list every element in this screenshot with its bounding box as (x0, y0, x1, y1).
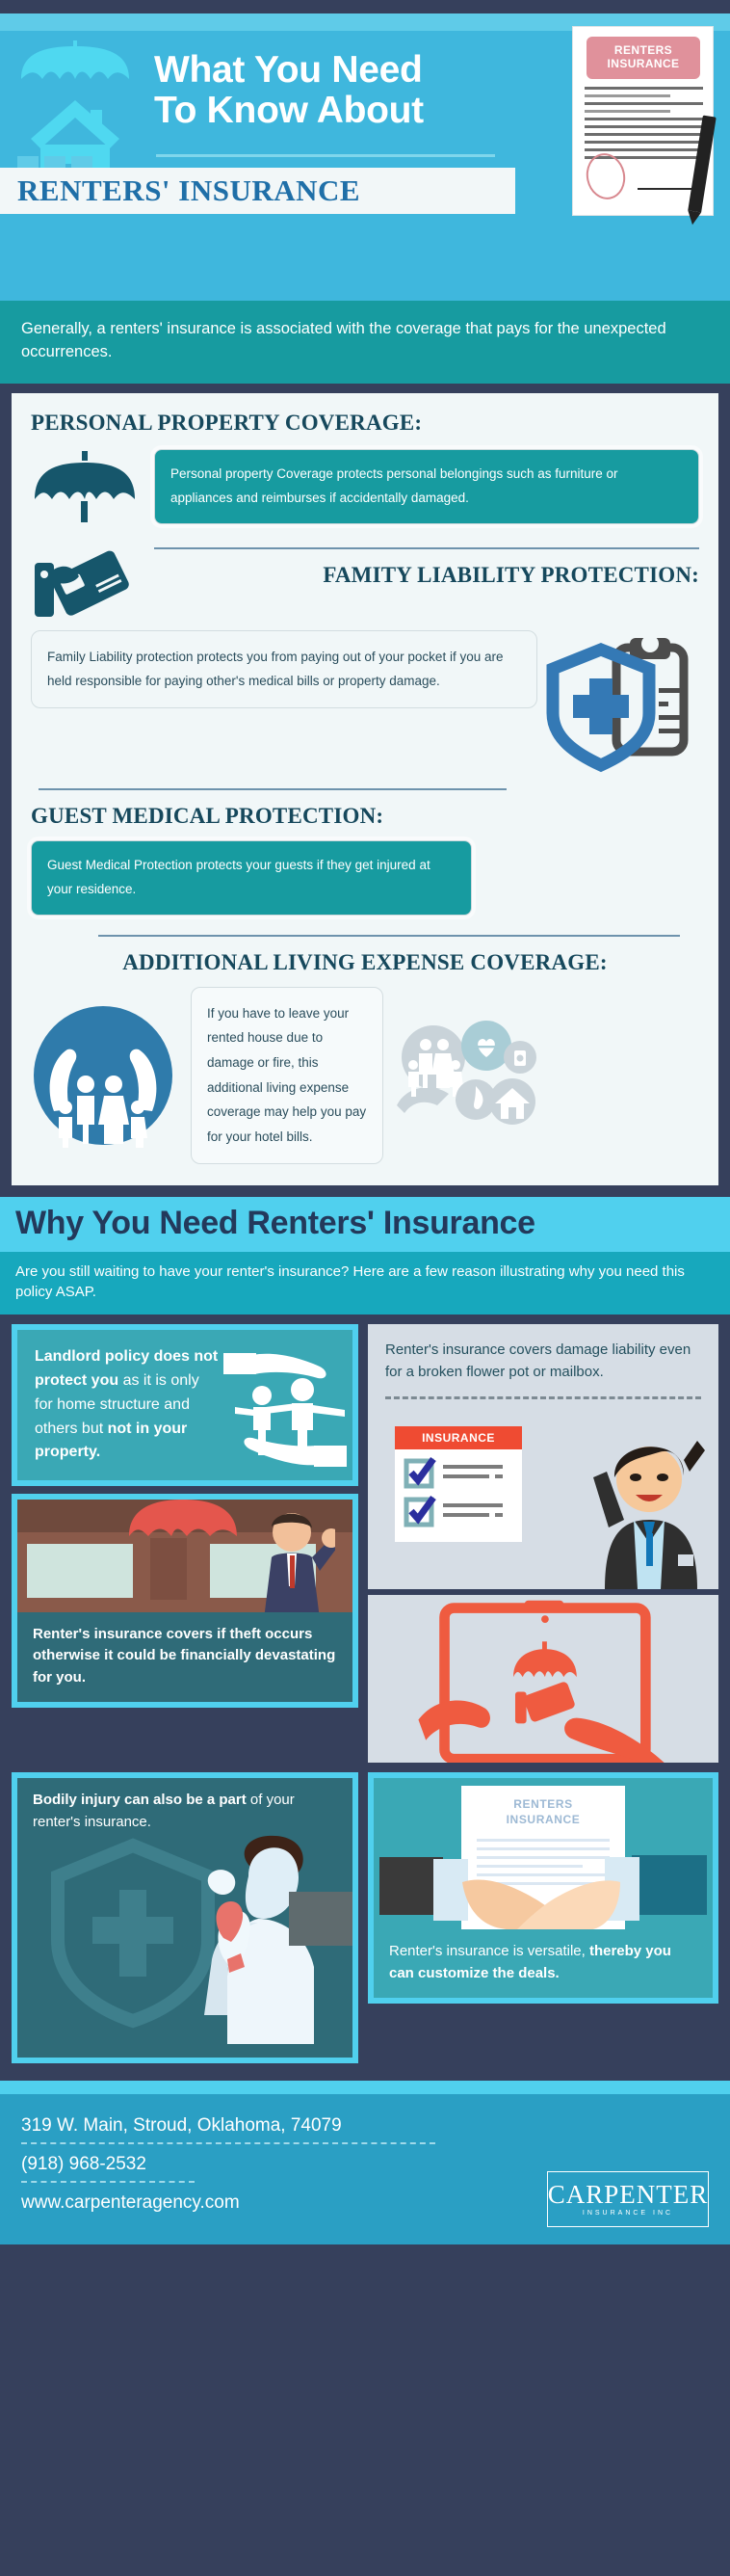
bodily-card-frame: Bodily injury can also be a part of your… (12, 1772, 358, 2063)
agent-checklist-scene: INSURANCE (368, 1411, 718, 1589)
umbrella-dark-icon (31, 449, 139, 526)
checklist-items (395, 1449, 522, 1540)
logo-sub-text: INSURANCE INC (583, 2210, 673, 2217)
policy-sheet-line-1: RENTERS (461, 1797, 625, 1813)
policy-signature-line (638, 188, 697, 190)
coverage-callout-guest-medical: Guest Medical Protection protects your g… (31, 840, 472, 916)
intro-banner: Generally, a renters' insurance is assoc… (0, 301, 730, 384)
theft-caption: Renter's insurance covers if theft occur… (17, 1612, 352, 1703)
section-divider-1 (154, 547, 699, 549)
bodily-column: Bodily injury can also be a part of your… (12, 1772, 358, 2063)
tablet-hands-scene (368, 1589, 718, 1763)
hands-family-icon (31, 1003, 175, 1148)
theft-card-frame: Renter's insurance covers if theft occur… (12, 1494, 358, 1708)
why-left-column: Landlord policy does not protect you as … (12, 1324, 358, 1763)
logo-brand-text: CARPENTER (548, 2182, 709, 2208)
coverage-heading-family-liability: FAMITY LIABILITY PROTECTION: (154, 563, 699, 588)
theft-scene: Renter's insurance covers if theft occur… (17, 1500, 352, 1702)
shop-door (150, 1538, 187, 1600)
damage-liability-card: Renter's insurance covers damage liabili… (368, 1324, 718, 1411)
shop-window-left (27, 1544, 133, 1598)
tablet-umbrella-icon (368, 1595, 718, 1763)
footer-divider-1 (21, 2142, 435, 2144)
footer-accent-band (0, 2081, 730, 2094)
section-divider-2 (39, 788, 507, 790)
carpenter-logo: CARPENTER INSURANCE INC (547, 2171, 709, 2227)
agent-icon (570, 1427, 715, 1589)
coverage-callout-family-liability: Family Liability protection protects you… (31, 630, 537, 708)
hero-banner-text: RENTERS' INSURANCE (17, 173, 360, 208)
hero-title-line-1: What You Need (154, 50, 510, 91)
footer: 319 W. Main, Stroud, Oklahoma, 74079 (91… (0, 2094, 730, 2244)
bottom-strip (0, 2244, 730, 2270)
hero-banner: RENTERS' INSURANCE (0, 168, 515, 214)
policy-badge-line-2: INSURANCE (608, 58, 680, 71)
coverage-heading-guest-medical: GUEST MEDICAL PROTECTION: (31, 804, 699, 829)
why-section-title: Why You Need Renters' Insurance (0, 1197, 730, 1252)
red-umbrella-icon (125, 1500, 241, 1544)
hero-divider (156, 154, 495, 157)
intro-text: Generally, a renters' insurance is assoc… (21, 320, 666, 360)
wallet-cards-icon (31, 538, 139, 621)
landlord-card: Landlord policy does not protect you as … (17, 1330, 352, 1480)
checklist-sheet: INSURANCE (395, 1426, 522, 1542)
policy-badge-line-1: RENTERS (614, 44, 672, 58)
family-benefits-cluster-icon (393, 1013, 537, 1138)
damage-liability-text: Renter's insurance covers damage liabili… (385, 1340, 701, 1383)
coverage-heading-personal-property: PERSONAL PROPERTY COVERAGE: (31, 411, 699, 436)
why-section-subtitle: Are you still waiting to have your rente… (0, 1252, 730, 1315)
versatile-column: RENTERS INSURANCE (368, 1772, 718, 2063)
umbrella-icon (19, 39, 131, 96)
coverage-callout-additional-living: If you have to leave your rented house d… (191, 987, 383, 1164)
why-right-column: Renter's insurance covers damage liabili… (368, 1324, 718, 1763)
insurance-label: INSURANCE (395, 1426, 522, 1449)
hands-protect-people-icon (223, 1340, 347, 1467)
hero-title-line-2: To Know About (154, 91, 510, 131)
coverage-panel: PERSONAL PROPERTY COVERAGE: Personal pro… (12, 393, 718, 1185)
why-section: Why You Need Renters' Insurance Are you … (0, 1197, 730, 1773)
shield-clipboard-icon (545, 630, 699, 775)
handshake-scene: RENTERS INSURANCE (374, 1778, 713, 1998)
top-strip (0, 0, 730, 13)
section-divider-3 (98, 935, 680, 937)
coverage-panel-wrap: PERSONAL PROPERTY COVERAGE: Personal pro… (0, 384, 730, 1197)
sleeve-block (289, 1892, 352, 1946)
why-grid: Landlord policy does not protect you as … (0, 1315, 730, 1772)
bottom-grid: Bodily injury can also be a part of your… (0, 1772, 730, 2073)
dashed-divider (385, 1396, 701, 1399)
policy-badge: RENTERS INSURANCE (587, 37, 700, 79)
pre-footer-gap (0, 2073, 730, 2081)
hero-section: What You Need To Know About RENTERS' INS… (0, 13, 730, 301)
versatile-caption-pre: Renter's insurance is versatile, (389, 1943, 589, 1959)
landlord-text: Landlord policy does not protect you as … (35, 1345, 221, 1465)
policy-text-lines (585, 87, 703, 164)
bodily-caption-bold: Bodily injury can also be a part (33, 1792, 247, 1808)
versatile-caption: Renter's insurance is versatile, thereby… (374, 1929, 713, 1998)
footer-divider-2 (21, 2181, 195, 2183)
coverage-callout-personal-property: Personal property Coverage protects pers… (154, 449, 699, 524)
policy-document-graphic: RENTERS INSURANCE (573, 27, 713, 215)
landlord-text-bold-1: Landlord policy does (35, 1348, 190, 1365)
hero-title: What You Need To Know About (154, 50, 510, 131)
policy-sheet-line-2: INSURANCE (461, 1813, 625, 1828)
footer-address: 319 W. Main, Stroud, Oklahoma, 74079 (21, 2115, 709, 2137)
infographic-page: What You Need To Know About RENTERS' INS… (0, 0, 730, 2270)
landlord-card-frame: Landlord policy does not protect you as … (12, 1324, 358, 1486)
versatile-card-frame: RENTERS INSURANCE (368, 1772, 718, 2004)
bodily-scene: Bodily injury can also be a part of your… (17, 1778, 352, 2058)
coverage-heading-additional-living: ADDITIONAL LIVING EXPENSE COVERAGE: (31, 950, 699, 975)
